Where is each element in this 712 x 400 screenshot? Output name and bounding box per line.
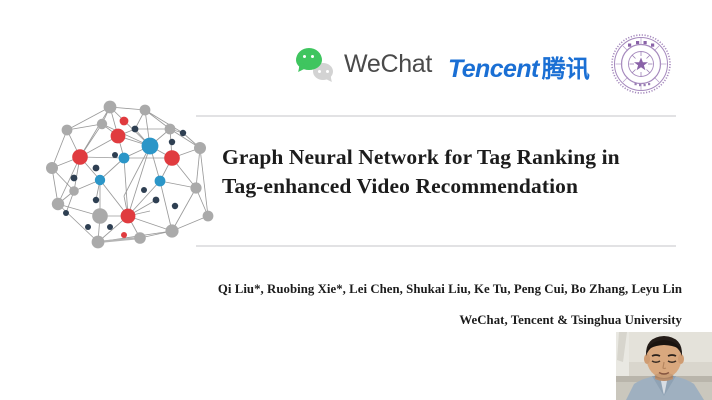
title-line-2: Tag-enhanced Video Recommendation (222, 172, 682, 201)
graph-network-illustration (40, 96, 222, 268)
logo-row: WeChat Tencent腾讯 (296, 32, 672, 98)
tencent-wordmark-chinese: 腾讯 (542, 56, 590, 83)
bubble-eye-left (303, 55, 306, 58)
wechat-wordmark: WeChat (344, 50, 432, 79)
tencent-logo: Tencent腾讯 (448, 49, 590, 81)
presentation-title-slide: WeChat Tencent腾讯 (0, 0, 712, 400)
tencent-wordmark: Tencent (448, 55, 539, 83)
wechat-icon (296, 48, 338, 82)
title-line-1: Graph Neural Network for Tag Ranking in (222, 143, 682, 172)
divider-bottom (196, 245, 676, 247)
tsinghua-university-seal-icon (610, 32, 672, 96)
bubble-eye-left (318, 70, 321, 73)
wechat-logo: WeChat (296, 46, 436, 84)
page-title: Graph Neural Network for Tag Ranking in … (222, 143, 682, 201)
authors-block: Qi Liu*, Ruobing Xie*, Lei Chen, Shukai … (120, 282, 682, 328)
author-affiliation: WeChat, Tencent & Tsinghua University (120, 313, 682, 328)
bubble-eye-right (326, 70, 329, 73)
bubble-eye-right (311, 55, 314, 58)
author-names: Qi Liu*, Ruobing Xie*, Lei Chen, Shukai … (120, 282, 682, 297)
presenter-webcam-feed[interactable] (616, 332, 712, 400)
wechat-green-bubble-icon (296, 48, 322, 70)
divider-top (196, 115, 676, 117)
